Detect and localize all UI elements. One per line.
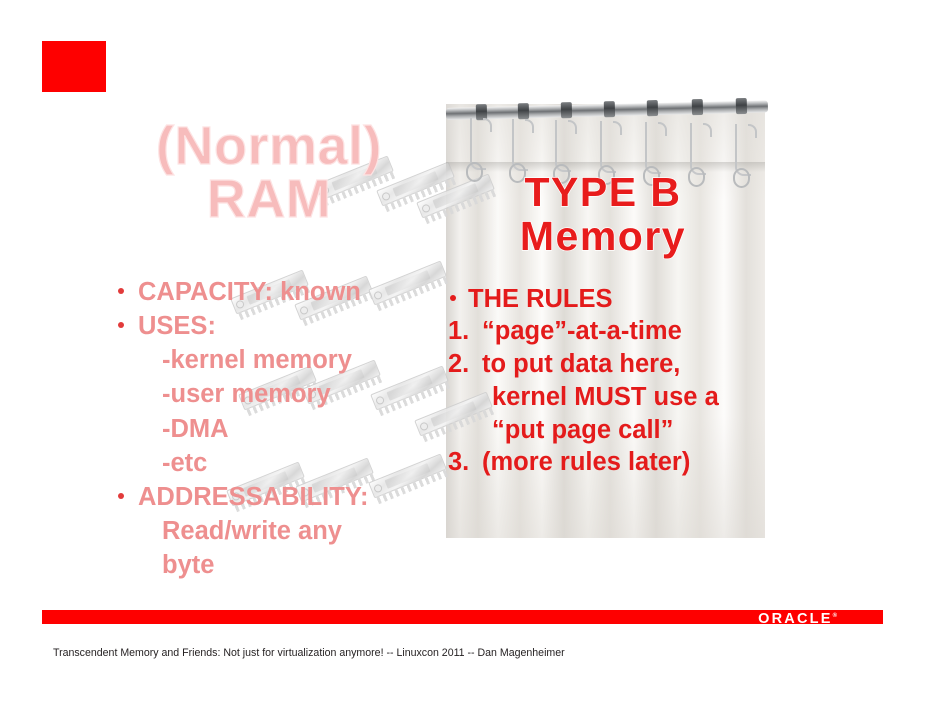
accent-square <box>42 41 106 92</box>
oracle-logo-trademark-icon: ® <box>833 613 837 619</box>
list-item-label: THE RULES <box>468 285 613 313</box>
list-item: -kernel memory <box>116 343 446 377</box>
list-item-label: “page”-at-a-time <box>482 317 682 345</box>
left-panel-title: (Normal) RAM <box>104 120 434 226</box>
footer-caption: Transcendent Memory and Friends: Not jus… <box>53 647 565 659</box>
list-item-label: “put page call” <box>492 416 673 444</box>
left-text-panel: (Normal) RAM CAPACITY: known USES: -kern… <box>104 120 444 550</box>
list-item-label: kernel MUST use a <box>492 383 719 411</box>
list-item: CAPACITY: known <box>116 275 446 309</box>
list-item-label: -etc <box>162 449 207 477</box>
left-title-line-1: (Normal) <box>104 120 434 173</box>
rod-clamp <box>561 102 572 118</box>
list-item: Read/write any <box>116 514 446 548</box>
list-item-number: 1. <box>448 315 482 348</box>
list-item-label: -user memory <box>162 380 331 408</box>
list-item-label: -kernel memory <box>162 346 352 374</box>
list-item-label: to put data here, <box>482 350 680 378</box>
rod-clamp <box>647 100 658 116</box>
oracle-logo-text: ORACLE <box>758 611 832 627</box>
list-item: THE RULES <box>448 283 776 316</box>
right-panel-title: TYPE B Memory <box>446 170 760 259</box>
list-item: byte <box>116 548 446 582</box>
rod-clamp <box>604 101 615 117</box>
bullet-dot-icon <box>450 295 456 301</box>
list-item: -etc <box>116 446 446 480</box>
bullet-dot-icon <box>118 493 124 499</box>
right-text-panel: TYPE B Memory THE RULES 1.“page”-at-a-ti… <box>446 164 776 479</box>
bullet-dot-icon <box>118 288 124 294</box>
list-item: USES: <box>116 309 446 343</box>
list-item-label: ADDRESSABILITY: <box>138 483 368 511</box>
list-item: 2.to put data here, <box>448 348 776 381</box>
slide-canvas: (Normal) RAM CAPACITY: known USES: -kern… <box>0 0 926 716</box>
left-bullet-list: CAPACITY: known USES: -kernel memory -us… <box>116 275 446 582</box>
list-item-number: 2. <box>448 348 482 381</box>
list-item: ADDRESSABILITY: <box>116 480 446 514</box>
right-title-line-1: TYPE B <box>446 170 760 214</box>
right-title-line-2: Memory <box>446 214 760 258</box>
rod-clamp <box>736 98 747 114</box>
list-item-label: USES: <box>138 312 216 340</box>
list-item: -DMA <box>116 412 446 446</box>
list-item-label: CAPACITY: known <box>138 278 361 306</box>
rules-list: THE RULES 1.“page”-at-a-time 2.to put da… <box>446 283 776 480</box>
list-item-label: Read/write any <box>162 517 342 545</box>
rod-clamp <box>692 99 703 115</box>
list-item: 1.“page”-at-a-time <box>448 315 776 348</box>
oracle-logo: ORACLE® <box>758 609 837 627</box>
bullet-dot-icon <box>118 322 124 328</box>
list-item-label: -DMA <box>162 415 229 443</box>
list-item: 3.(more rules later) <box>448 446 776 479</box>
rod-clamp <box>518 103 529 119</box>
list-item: -user memory <box>116 377 446 411</box>
list-item-continuation: kernel MUST use a <box>448 381 776 414</box>
left-title-line-2: RAM <box>104 173 434 226</box>
list-item-continuation: “put page call” <box>448 414 776 447</box>
list-item-label: (more rules later) <box>482 448 690 476</box>
footer-red-bar: ORACLE® <box>42 610 883 624</box>
list-item-label: byte <box>162 551 214 579</box>
list-item-number: 3. <box>448 446 482 479</box>
